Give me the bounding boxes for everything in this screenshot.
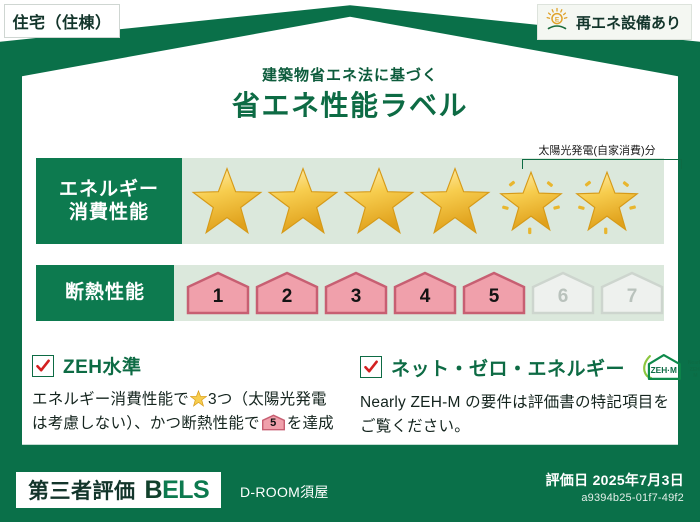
- evaluation-date-label: 評価日: [545, 472, 588, 488]
- property-name: D-ROOM須屋: [240, 482, 329, 502]
- star-icon: [190, 163, 264, 239]
- insulation-grade-badge: 7: [600, 271, 664, 315]
- renewable-badge-label: 再エネ設備あり: [576, 12, 681, 33]
- energy-row-body: [182, 158, 664, 244]
- energy-performance-label: 住宅（住棟） E 再エネ設備あり 建築物省エネ法に基づく 省: [0, 0, 700, 522]
- zeh-standard-description: エネルギー消費性能で3つ（太陽光発電は考慮しない）、かつ断熱性能で5を達成: [32, 388, 344, 435]
- star-icon: [266, 163, 340, 239]
- housing-type-tag: 住宅（住棟）: [4, 4, 120, 38]
- star-icon: [418, 163, 492, 239]
- inline-grade-number: 5: [262, 414, 285, 431]
- insulation-grade-number: 7: [627, 287, 638, 315]
- zeh-desc-part3: を達成: [287, 415, 334, 432]
- zeh-desc-star-count: 3つ（太陽光発電: [208, 391, 327, 408]
- svg-text:E: E: [555, 16, 560, 23]
- star-icon-solar: [494, 163, 568, 239]
- energy-row-label-line1: エネルギー: [59, 178, 159, 201]
- evaluation-date: 評価日 2025年7月3日: [545, 470, 684, 490]
- insulation-grade-number: 6: [558, 287, 569, 315]
- net-zero-energy-title: ネット・ゼロ・エネルギー: [391, 354, 625, 381]
- bels-logo-els: ELS: [162, 476, 209, 504]
- insulation-grade-number: 3: [351, 287, 362, 315]
- insulation-grade-number: 5: [489, 287, 500, 315]
- net-zero-energy-block: ネット・ゼロ・エネルギー ZEH·M NearlyZEH-M Nearly ZE…: [360, 352, 678, 438]
- insulation-grade-number: 2: [282, 287, 293, 315]
- zeh-m-logo-subtext: NearlyZEH-M: [688, 360, 700, 382]
- bels-logo-b: B: [145, 476, 163, 504]
- bels-logo: BELS: [145, 476, 210, 505]
- insulation-grade-badge: 4: [393, 271, 457, 315]
- solar-annotation-bracket: [522, 159, 682, 169]
- third-party-eval-label: 第三者評価: [28, 475, 136, 505]
- bels-certification-box: 第三者評価 BELS: [16, 472, 221, 508]
- renewable-equipment-badge: E 再エネ設備あり: [537, 4, 692, 40]
- net-zero-energy-description: Nearly ZEH-M の要件は評価書の特記項目をご覧ください。: [360, 391, 678, 438]
- evaluation-date-value: 2025年7月3日: [593, 472, 684, 488]
- zeh-m-logo: ZEH·M NearlyZEH-M: [640, 352, 700, 382]
- zeh-m-sub-line1: Nearly: [688, 360, 700, 366]
- star-icon-solar: [570, 163, 644, 239]
- check-icon: [32, 355, 54, 377]
- insulation-row-label: 断熱性能: [36, 265, 174, 321]
- energy-row-label-line2: 消費性能: [69, 201, 149, 224]
- net-zero-energy-header: ネット・ゼロ・エネルギー ZEH·M NearlyZEH-M: [360, 352, 678, 382]
- star-icon-inline: [190, 390, 207, 407]
- zeh-standard-header: ZEH水準: [32, 352, 344, 379]
- insulation-grade-badge: 2: [255, 271, 319, 315]
- insulation-grade-badge: 5: [462, 271, 526, 315]
- insulation-grade-badge: 1: [186, 271, 250, 315]
- insulation-grade-badge-inline: 5: [262, 414, 285, 431]
- zeh-desc-part2: は考慮しない）、かつ断熱性能で: [32, 415, 260, 432]
- star-rating: [182, 158, 664, 244]
- svg-text:ZEH·M: ZEH·M: [651, 365, 677, 375]
- zeh-m-sub-line2: ZEH-M: [690, 367, 700, 379]
- evaluation-id: a9394b25-01f7-49f2: [581, 492, 684, 504]
- insulation-grade-number: 1: [213, 287, 224, 315]
- solar-annotation-text: 太陽光発電(自家消費)分: [508, 142, 686, 158]
- insulation-row-label-text: 断熱性能: [65, 281, 145, 304]
- energy-row-label: エネルギー 消費性能: [36, 158, 182, 244]
- insulation-grade-badge: 6: [531, 271, 595, 315]
- zeh-standard-title: ZEH水準: [63, 352, 142, 379]
- zeh-standard-block: ZEH水準 エネルギー消費性能で3つ（太陽光発電は考慮しない）、かつ断熱性能で5…: [32, 352, 344, 435]
- insulation-grade-number: 4: [420, 287, 431, 315]
- insulation-performance-row: 断熱性能 1 2 3 4: [36, 265, 664, 321]
- insulation-grade-scale: 1 2 3 4 5: [174, 271, 664, 315]
- label-subtitle: 建築物省エネ法に基づく: [0, 64, 700, 85]
- housing-type-label: 住宅（住棟）: [12, 9, 111, 33]
- zeh-desc-part1: エネルギー消費性能で: [32, 391, 189, 408]
- insulation-grade-badge: 3: [324, 271, 388, 315]
- page-title: 省エネ性能ラベル: [0, 84, 700, 124]
- energy-performance-row: エネルギー 消費性能: [36, 158, 664, 244]
- label-footer: 第三者評価 BELS D-ROOM須屋 評価日 2025年7月3日 a9394b…: [0, 462, 700, 522]
- insulation-row-body: 1 2 3 4 5: [174, 265, 664, 321]
- check-icon: [360, 356, 382, 378]
- star-icon: [342, 163, 416, 239]
- solar-sun-icon: E: [544, 7, 570, 38]
